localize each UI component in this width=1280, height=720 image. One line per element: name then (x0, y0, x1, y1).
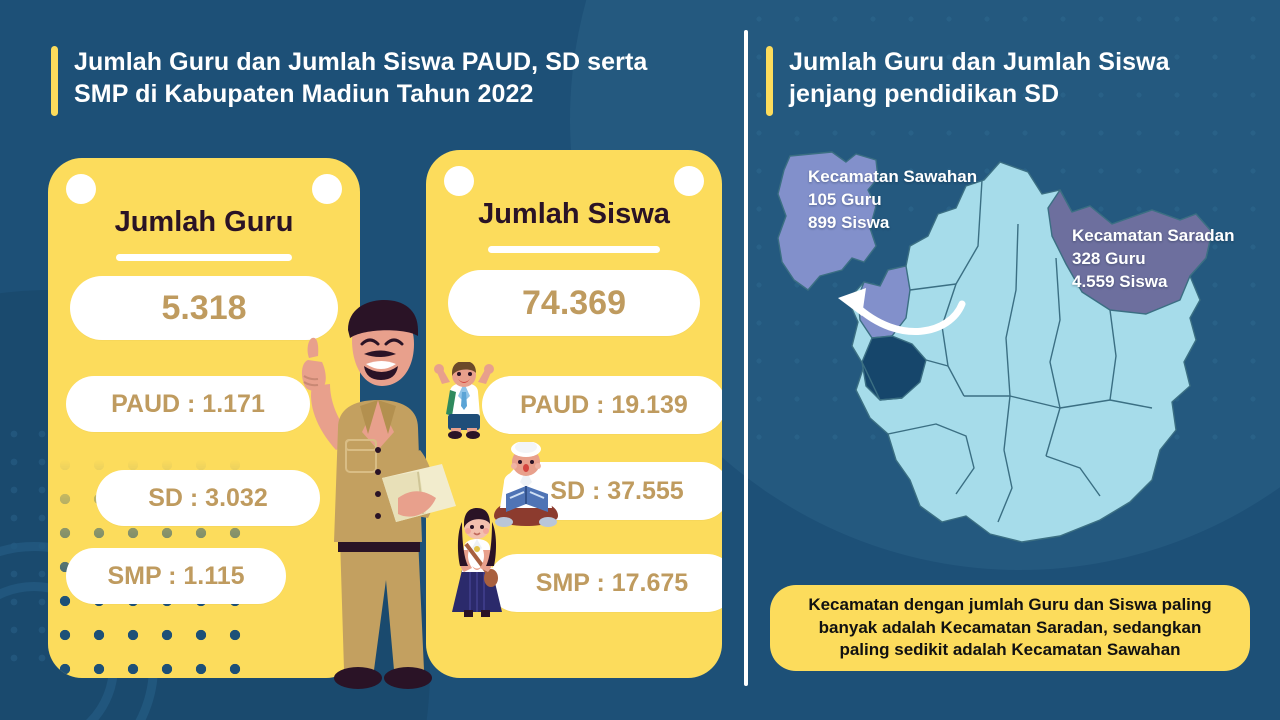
infographic-canvas: Jumlah Guru dan Jumlah Siswa PAUD, SD se… (0, 0, 1280, 720)
card-siswa-heading: Jumlah Siswa (426, 198, 722, 231)
card-guru-rule (116, 254, 292, 261)
right-panel-title: Jumlah Guru dan Jumlah Siswa jenjang pen… (766, 46, 1170, 116)
title-accent-bar (766, 46, 773, 116)
card-guru-row-smp: SMP : 1.115 (66, 548, 286, 604)
card-siswa-rule (488, 246, 660, 253)
card-siswa-row-paud: PAUD : 19.139 (482, 376, 722, 434)
card-siswa-total-value: 74.369 (448, 270, 700, 336)
card-guru-row-paud: PAUD : 1.171 (66, 376, 310, 432)
left-panel-title: Jumlah Guru dan Jumlah Siswa PAUD, SD se… (51, 46, 647, 116)
punch-hole-right-icon (674, 166, 704, 196)
map-caption: Kecamatan dengan jumlah Guru dan Siswa p… (770, 585, 1250, 671)
map-label-saradan: Kecamatan Saradan 328 Guru 4.559 Siswa (1072, 225, 1235, 293)
title-accent-bar (51, 46, 58, 116)
map-label-sawahan: Kecamatan Sawahan 105 Guru 899 Siswa (808, 166, 977, 234)
card-guru-heading: Jumlah Guru (48, 206, 360, 239)
student-girl-illustration (444, 508, 510, 622)
card-siswa-row-smp: SMP : 17.675 (488, 554, 722, 612)
punch-hole-left-icon (66, 174, 96, 204)
punch-hole-left-icon (444, 166, 474, 196)
panel-divider (744, 30, 748, 686)
right-panel-title-text: Jumlah Guru dan Jumlah Siswa jenjang pen… (789, 46, 1170, 110)
punch-hole-right-icon (312, 174, 342, 204)
student-boy-illustration (432, 362, 496, 440)
left-panel-title-text: Jumlah Guru dan Jumlah Siswa PAUD, SD se… (74, 46, 647, 110)
map-panel: Kecamatan Sawahan 105 Guru 899 Siswa Kec… (760, 150, 1260, 570)
